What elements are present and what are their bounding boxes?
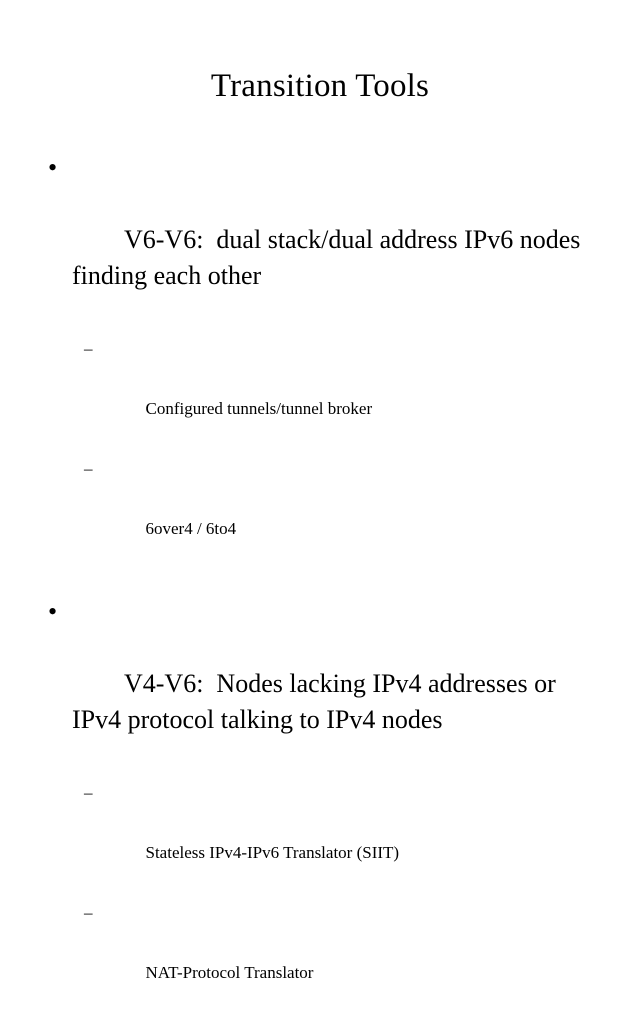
sub-bullet-item-label: Stateless IPv4-IPv6 Translator (SIIT) — [146, 843, 400, 862]
sub-bullet-item-label: 6over4 / 6to4 — [146, 519, 237, 538]
dash-marker-icon: – — [84, 778, 100, 808]
bullet-marker-icon: • — [48, 594, 66, 630]
dash-marker-icon: – — [84, 898, 100, 928]
bullet-group: • V6-V6: dual stack/dual address IPv6 no… — [0, 150, 640, 574]
sub-bullet-list: – Configured tunnels/tunnel broker – 6ov… — [0, 334, 640, 574]
bullet-item: • V6-V6: dual stack/dual address IPv6 no… — [0, 150, 640, 330]
sub-bullet-item: – Configured tunnels/tunnel broker — [0, 334, 640, 454]
sub-bullet-item-label: Configured tunnels/tunnel broker — [146, 399, 373, 418]
bullet-item: • V4-V6: Nodes lacking IPv4 addresses or… — [0, 594, 640, 774]
sub-bullet-item: – NAT-Protocol Translator — [0, 898, 640, 1018]
dash-marker-icon: – — [84, 334, 100, 364]
bullet-item-label: V4-V6: Nodes lacking IPv4 addresses or I… — [72, 669, 562, 734]
sub-bullet-item: – 6over4 / 6to4 — [0, 454, 640, 574]
sub-bullet-list: – Stateless IPv4-IPv6 Translator (SIIT) … — [0, 778, 640, 1018]
bullet-group: • V4-V6: Nodes lacking IPv4 addresses or… — [0, 594, 640, 1018]
sub-bullet-item: – Stateless IPv4-IPv6 Translator (SIIT) — [0, 778, 640, 898]
dash-marker-icon: – — [84, 454, 100, 484]
sub-bullet-item-label: NAT-Protocol Translator — [146, 963, 314, 982]
slide-canvas: Transition Tools • V6-V6: dual stack/dua… — [0, 0, 640, 512]
bullet-marker-icon: • — [48, 150, 66, 186]
slide-body-list: • V6-V6: dual stack/dual address IPv6 no… — [0, 150, 640, 1018]
page-title: Transition Tools — [0, 66, 640, 106]
bullet-item-label: V6-V6: dual stack/dual address IPv6 node… — [72, 225, 587, 290]
